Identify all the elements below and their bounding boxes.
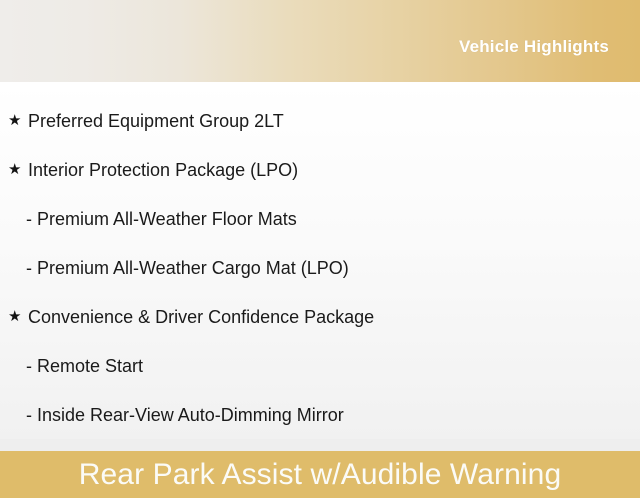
list-item: - Premium All-Weather Floor Mats — [0, 194, 640, 243]
vehicle-highlights-slide: Vehicle Highlights ★ Preferred Equipment… — [0, 0, 640, 480]
feature-label: Preferred Equipment Group 2LT — [28, 110, 284, 132]
list-item: ★ Convenience & Driver Confidence Packag… — [0, 292, 640, 341]
list-item: ★ Preferred Equipment Group 2LT — [0, 96, 640, 145]
footer-banner: Rear Park Assist w/Audible Warning — [0, 451, 640, 498]
footer-banner-text: Rear Park Assist w/Audible Warning — [79, 458, 561, 492]
page-title: Vehicle Highlights — [459, 25, 640, 57]
header-band: Vehicle Highlights — [0, 0, 640, 82]
feature-label: Convenience & Driver Confidence Package — [28, 306, 374, 328]
feature-label: Interior Protection Package (LPO) — [28, 159, 298, 181]
star-bullet-icon: ★ — [8, 162, 28, 177]
list-item: - Inside Rear-View Auto-Dimming Mirror — [0, 390, 640, 439]
footer-divider — [0, 439, 640, 451]
feature-label: Premium All-Weather Cargo Mat (LPO) — [37, 257, 349, 279]
vehicle-features-list: ★ Preferred Equipment Group 2LT ★ Interi… — [0, 82, 640, 439]
feature-label: Remote Start — [37, 355, 143, 377]
feature-label: Inside Rear-View Auto-Dimming Mirror — [37, 404, 344, 426]
dash-bullet-icon: - — [26, 357, 37, 375]
dash-bullet-icon: - — [26, 259, 37, 277]
feature-label: Premium All-Weather Floor Mats — [37, 208, 297, 230]
list-item: - Premium All-Weather Cargo Mat (LPO) — [0, 243, 640, 292]
dash-bullet-icon: - — [26, 210, 37, 228]
star-bullet-icon: ★ — [8, 113, 28, 128]
dash-bullet-icon: - — [26, 406, 37, 424]
list-item: ★ Interior Protection Package (LPO) — [0, 145, 640, 194]
star-bullet-icon: ★ — [8, 309, 28, 324]
list-item: - Remote Start — [0, 341, 640, 390]
